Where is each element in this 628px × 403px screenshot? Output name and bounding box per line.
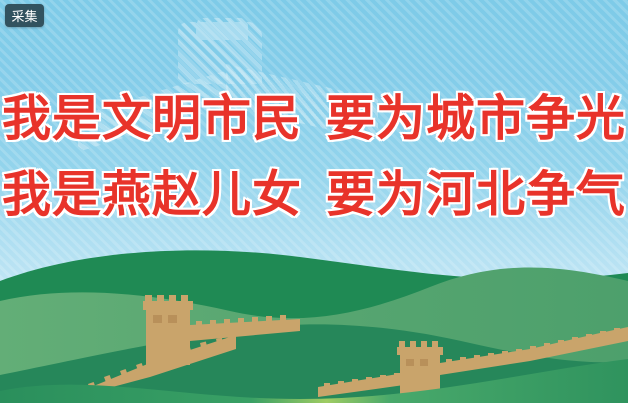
headline-block: 我是文明市民要为城市争光 我是燕赵儿女要为河北争气 (0, 95, 628, 220)
watermark-tower-top (196, 18, 248, 40)
capture-button[interactable]: 采集 (5, 4, 44, 27)
headline-line-1-left: 我是文明市民 (2, 92, 302, 146)
headline-line-1: 我是文明市民要为城市争光 (0, 95, 628, 144)
landscape-hills (0, 223, 628, 403)
headline-line-2-left: 我是燕赵儿女 (2, 168, 302, 222)
headline-line-2-right: 要为河北争气 (326, 168, 626, 222)
headline-line-2: 我是燕赵儿女要为河北争气 (0, 171, 628, 220)
headline-line-1-right: 要为城市争光 (326, 92, 626, 146)
banner-image: 我是文明市民要为城市争光 我是燕赵儿女要为河北争气 采集 (0, 0, 628, 403)
